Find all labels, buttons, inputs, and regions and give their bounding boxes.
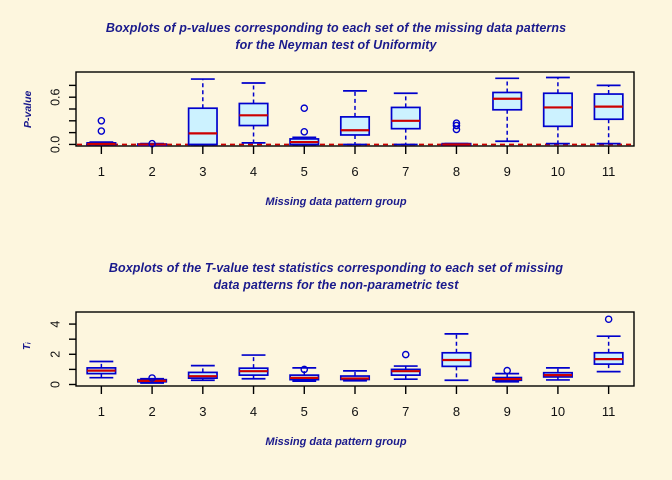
x-tick-label: 3 [199,404,206,419]
boxplot-group-4[interactable] [239,83,267,143]
boxplot-group-1[interactable] [87,362,115,378]
x-tick-label: 10 [551,164,565,179]
boxplot-group-3[interactable] [189,79,217,144]
outlier-point [301,105,307,111]
x-tick-label: 4 [250,164,257,179]
x-tick-label: 2 [148,404,155,419]
x-tick-label: 11 [602,164,616,179]
x-tick-label: 5 [301,404,308,419]
chart-panel-pvalue: Boxplots of p-values corresponding to ea… [0,0,672,240]
x-tick-label: 11 [602,404,616,419]
x-tick-label: 9 [504,164,511,179]
x-tick-label: 1 [98,404,105,419]
outlier-point [504,367,510,373]
boxplot-canvas-tvalue: 0241234567891011 [0,240,672,480]
outlier-point [606,316,612,322]
x-tick-label: 8 [453,404,460,419]
outlier-point [98,128,104,134]
boxplot-group-6[interactable] [341,371,369,381]
outlier-point [301,129,307,135]
x-tick-label: 7 [402,164,409,179]
x-tick-label: 8 [453,164,460,179]
figure-root: Boxplots of p-values corresponding to ea… [0,0,672,480]
boxplot-group-11[interactable] [594,85,622,143]
x-tick-label: 7 [402,404,409,419]
boxplot-group-9[interactable] [493,367,521,381]
outlier-point [98,118,104,124]
y-tick-label: 2 [48,351,62,358]
x-tick-label: 9 [504,404,511,419]
boxplot-group-3[interactable] [189,366,217,381]
boxplot-group-5[interactable] [290,105,318,144]
box-iqr [189,108,217,144]
x-tick-label: 6 [351,404,358,419]
box-iqr [493,92,521,109]
x-tick-label: 3 [199,164,206,179]
y-tick-label: 4 [48,321,62,328]
x-tick-label: 4 [250,404,257,419]
boxplot-group-2[interactable] [138,375,166,383]
outlier-point [403,351,409,357]
box-iqr [392,107,420,128]
boxplot-group-2[interactable] [138,141,166,147]
boxplot-group-8[interactable] [442,334,470,380]
boxplot-group-10[interactable] [544,78,572,144]
box-iqr [544,93,572,126]
boxplot-group-9[interactable] [493,78,521,141]
x-tick-label: 5 [301,164,308,179]
box-iqr [341,117,369,135]
boxplot-group-8[interactable] [442,120,470,145]
chart-panel-tvalue: Boxplots of the T-value test statistics … [0,240,672,480]
boxplot-canvas-pvalue: 0.00.61234567891011 [0,0,672,240]
x-tick-label: 2 [148,164,155,179]
y-tick-label: 0.6 [48,88,62,105]
boxplot-group-11[interactable] [594,316,622,372]
y-tick-label: 0.0 [48,136,62,153]
boxplot-group-4[interactable] [239,355,267,379]
boxplot-group-1[interactable] [87,118,115,145]
y-tick-label: 0 [48,381,62,388]
boxplot-group-7[interactable] [392,351,420,379]
x-tick-label: 10 [551,404,565,419]
x-tick-label: 1 [98,164,105,179]
boxplot-group-5[interactable] [290,366,318,381]
boxplot-group-7[interactable] [392,93,420,144]
boxplot-group-10[interactable] [544,368,572,380]
boxplot-group-6[interactable] [341,91,369,145]
x-tick-label: 6 [351,164,358,179]
